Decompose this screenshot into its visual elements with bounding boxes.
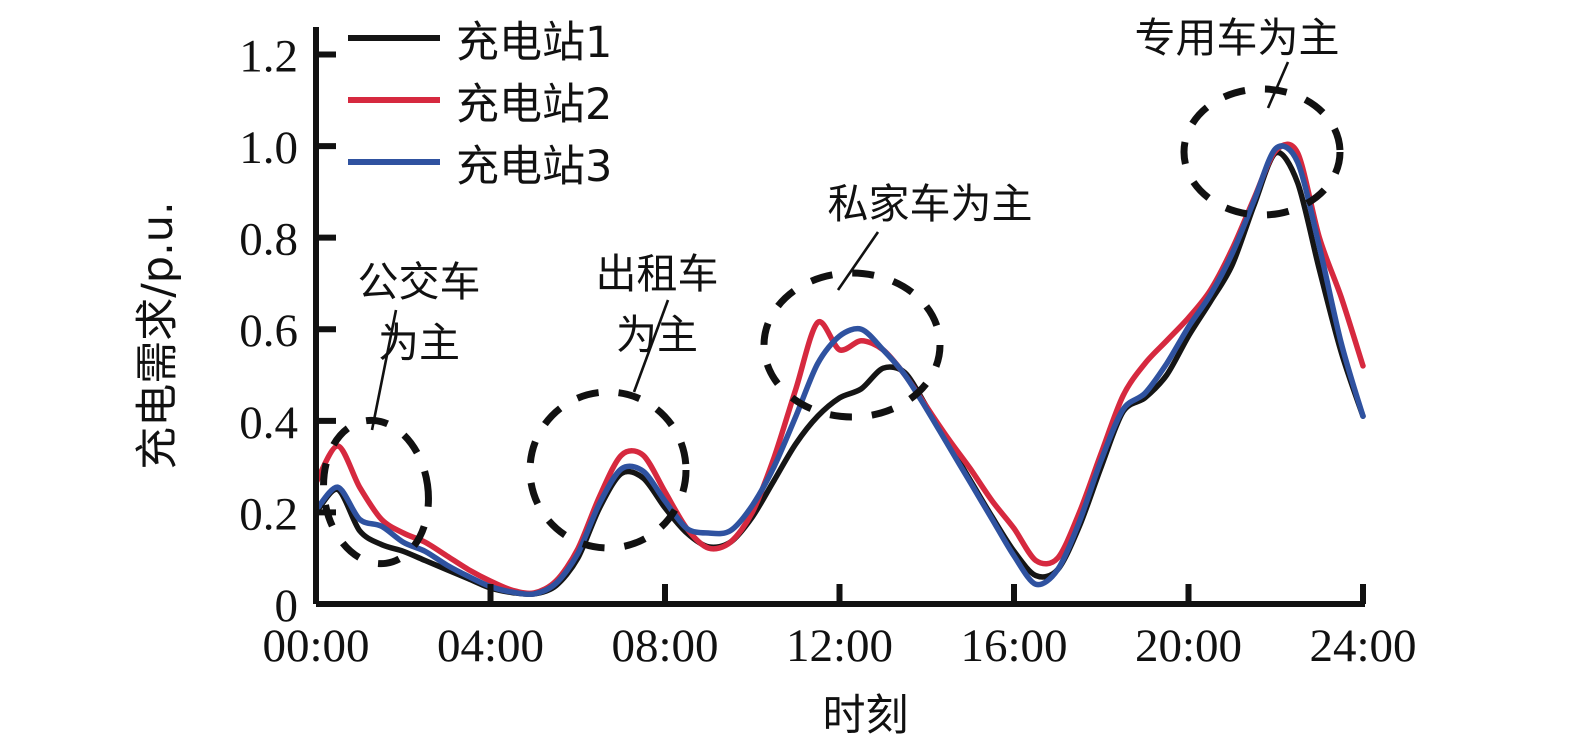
annotation-label-taxi: 出租车: [596, 250, 719, 298]
x-tick-label-3: 12:00: [786, 620, 893, 672]
annotation-label-dedicated: 专用车为主: [1135, 14, 1340, 62]
annotation-label-bus: 公交车: [358, 258, 481, 306]
chart-canvas: 00.20.40.60.81.01.200:0004:0008:0012:001…: [0, 0, 1575, 749]
y-axis-title-text: 充电需求/p.u.: [133, 201, 183, 469]
annotation-label-private: 私家车为主: [828, 180, 1033, 228]
y-tick-label-5: 1.0: [239, 122, 298, 174]
legend-label-1: 充电站1: [456, 18, 612, 68]
annotation-label-taxi-line2: 为主: [616, 311, 698, 359]
y-tick-label-2: 0.4: [239, 397, 298, 449]
annotation-leader-dedicated: [1268, 62, 1288, 108]
annotation-ellipse-dedicated: [1184, 89, 1340, 215]
x-tick-label-5: 20:00: [1135, 620, 1242, 672]
x-tick-label-0: 00:00: [262, 620, 369, 672]
x-tick-label-6: 24:00: [1309, 620, 1416, 672]
y-tick-label-6: 1.2: [239, 30, 298, 82]
x-tick-label-1: 04:00: [437, 620, 544, 672]
annotation-ellipse-taxi: [530, 392, 686, 548]
legend-label-3: 充电站3: [456, 142, 612, 192]
legend: 充电站1充电站2充电站3: [348, 18, 612, 192]
legend-label-2: 充电站2: [456, 80, 612, 130]
y-tick-label-3: 0.6: [239, 305, 298, 357]
x-axis-title-text: 时刻: [823, 691, 909, 741]
x-tick-label-4: 16:00: [960, 620, 1067, 672]
chart-figure: 00.20.40.60.81.01.200:0004:0008:0012:001…: [0, 0, 1575, 749]
y-tick-label-1: 0.2: [239, 488, 298, 540]
y-tick-label-4: 0.8: [239, 214, 298, 266]
x-tick-label-2: 08:00: [611, 620, 718, 672]
annotation-leader-private: [838, 232, 878, 290]
annotation-label-bus-line2: 为主: [378, 319, 460, 367]
